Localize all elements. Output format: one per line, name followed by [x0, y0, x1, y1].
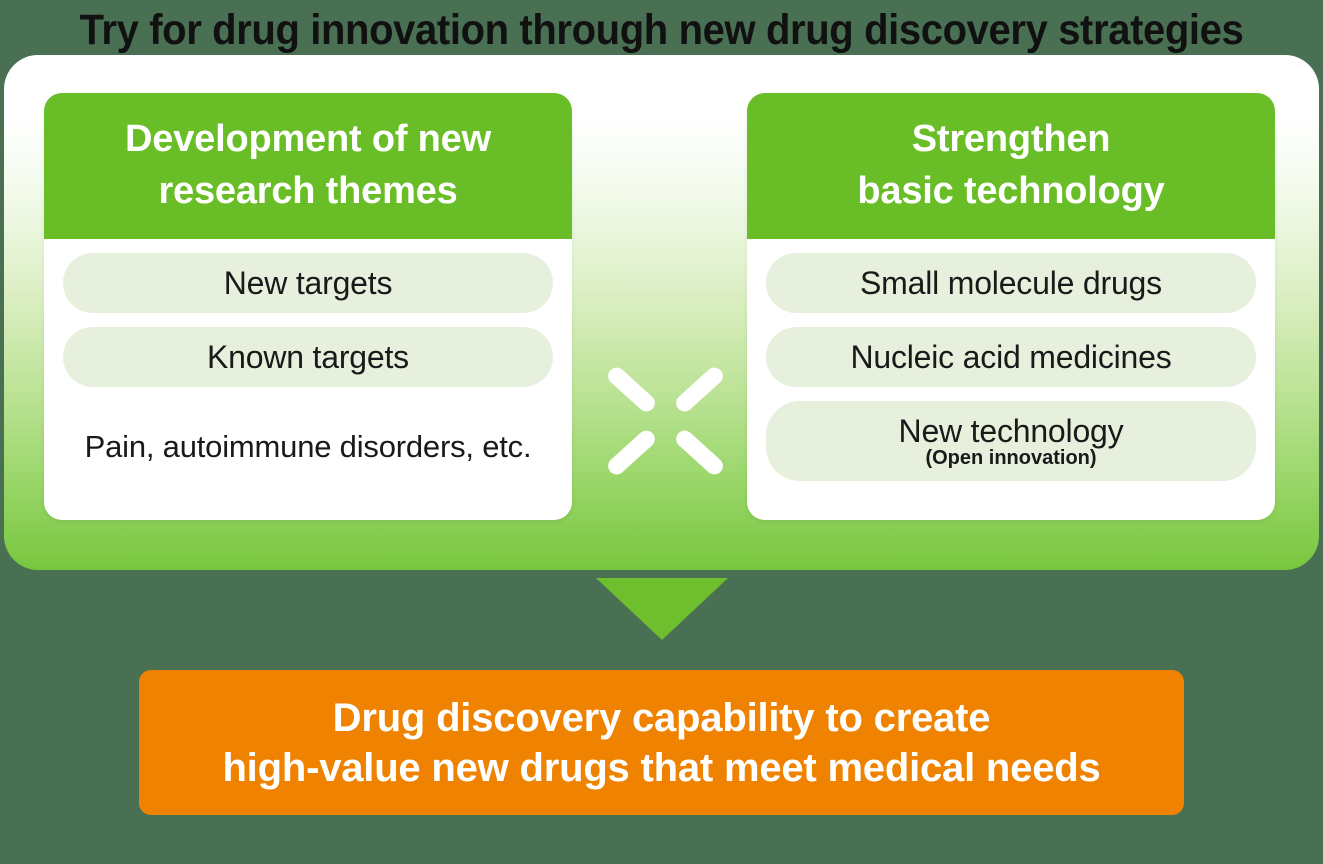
pill-label: Small molecule drugs [860, 265, 1162, 301]
pill-label: Nucleic acid medicines [850, 339, 1171, 375]
card-development-of-new-research-themes: Development of new research themes New t… [44, 93, 572, 520]
diagram-root: Try for drug innovation through new drug… [0, 0, 1323, 864]
strategy-panel: Development of new research themes New t… [4, 55, 1319, 570]
x-bar-bottom-right [673, 427, 727, 478]
pill-label: Known targets [207, 339, 409, 375]
list-item[interactable]: Small molecule drugs [766, 253, 1256, 313]
card-header-right: Strengthen basic technology [747, 93, 1275, 239]
list-item[interactable]: Nucleic acid medicines [766, 327, 1256, 387]
card-strengthen-basic-technology: Strengthen basic technology Small molecu… [747, 93, 1275, 520]
multiply-x-icon [603, 358, 728, 483]
arrow-down-triangle-icon [596, 578, 728, 640]
card-body-left: New targets Known targets Pain, autoimmu… [44, 239, 572, 481]
x-bar-top-right [673, 364, 727, 415]
card-body-right: Small molecule drugs Nucleic acid medici… [747, 239, 1275, 511]
pill-label: New technology [899, 413, 1124, 449]
outcome-line-1: Drug discovery capability to create [333, 693, 991, 743]
card-header-left-line1: Development of new [125, 118, 491, 160]
list-item[interactable]: New targets [63, 253, 553, 313]
page-title: Try for drug innovation through new drug… [46, 4, 1276, 56]
list-item[interactable]: Known targets [63, 327, 553, 387]
pill-sublabel: (Open innovation) [925, 447, 1096, 469]
outcome-line-2: high-value new drugs that meet medical n… [222, 743, 1100, 793]
x-bar-top-left [605, 364, 659, 415]
card-header-right-line2: basic technology [757, 165, 1265, 217]
card-header-left: Development of new research themes [44, 93, 572, 239]
card-header-left-line2: research themes [54, 165, 562, 217]
list-item[interactable]: New technology (Open innovation) [766, 401, 1256, 481]
card-left-note: Pain, autoimmune disorders, etc. [63, 429, 553, 465]
outcome-box: Drug discovery capability to create high… [139, 670, 1184, 815]
x-bar-bottom-left [605, 427, 659, 478]
pill-label: New targets [224, 265, 393, 301]
card-header-right-line1: Strengthen [912, 118, 1111, 160]
